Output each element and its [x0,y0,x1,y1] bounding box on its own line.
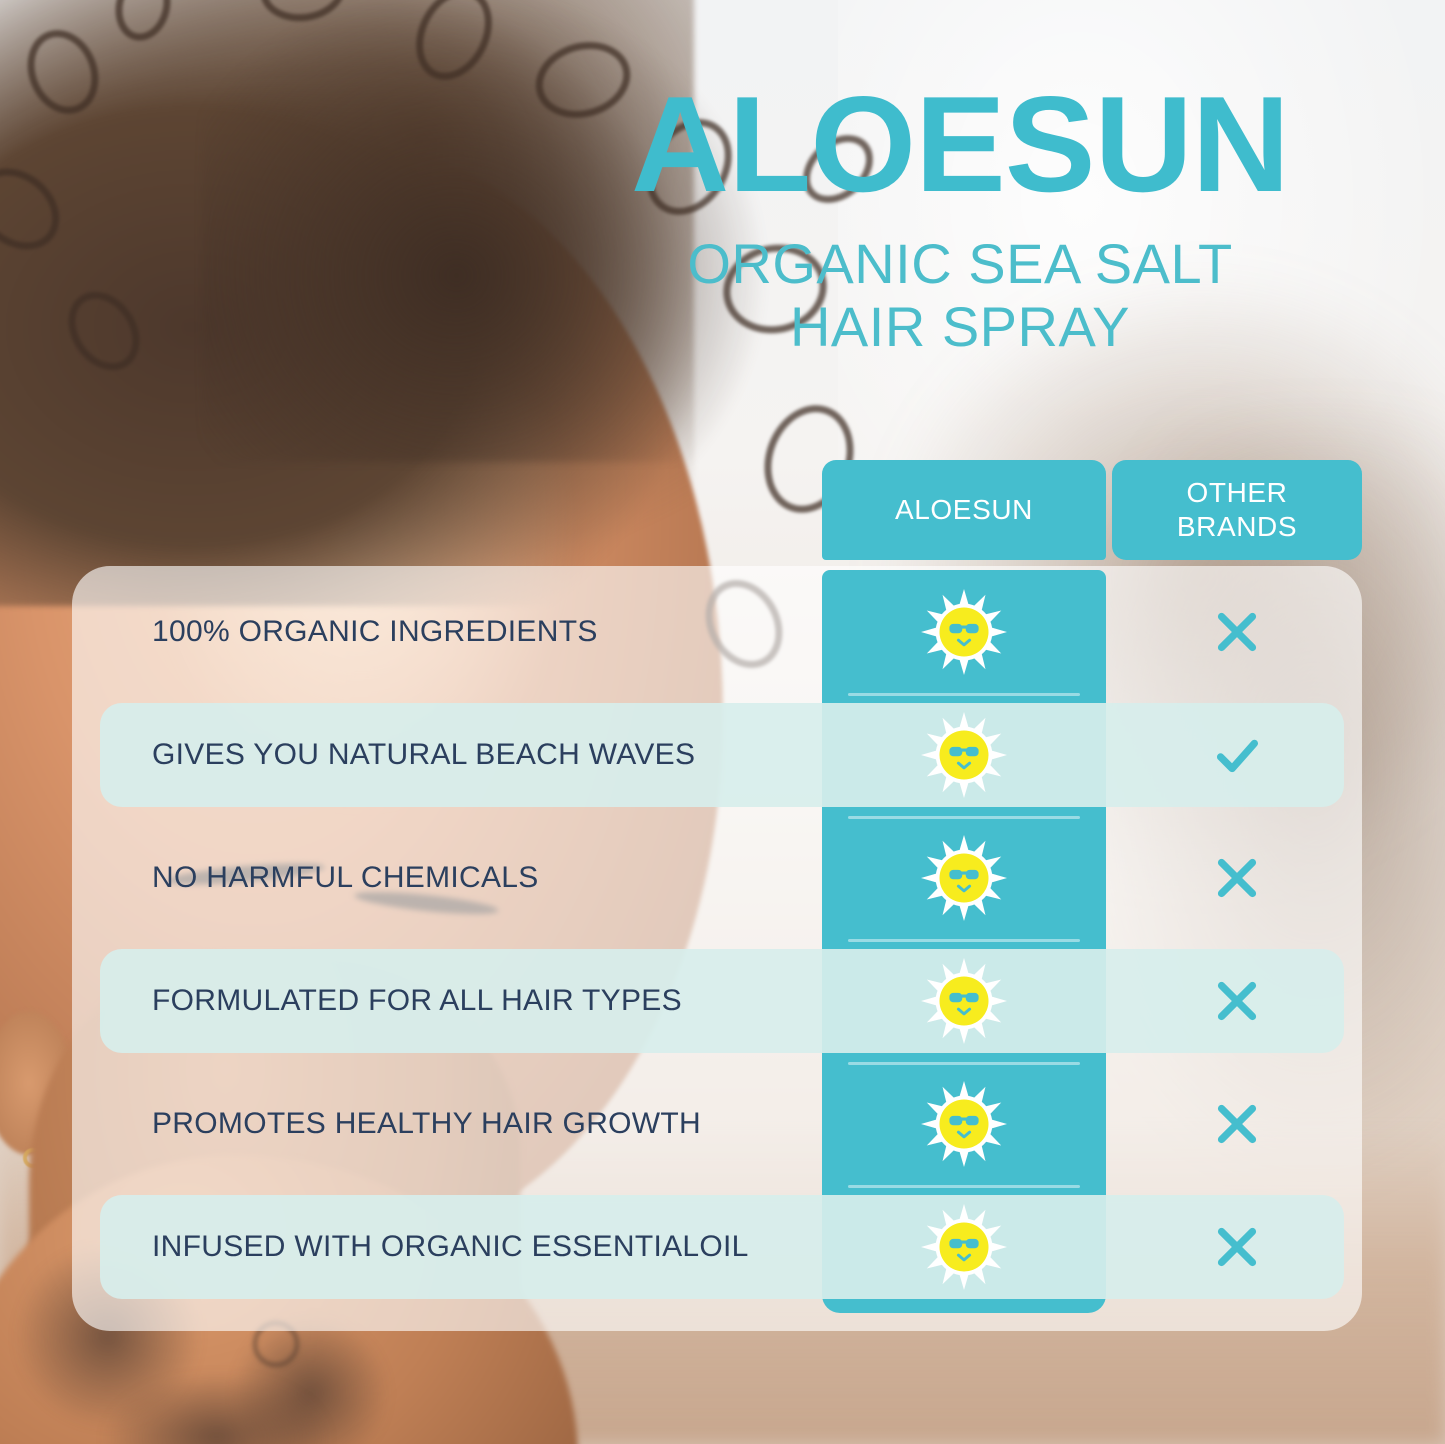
row-feature-label: FORMULATED FOR ALL HAIR TYPES [152,984,682,1018]
cell-other-brands [1112,580,1362,684]
sun-smiling-icon [921,1081,1007,1167]
cell-other-brands [1112,1195,1362,1299]
cell-aloesun [822,703,1106,807]
x-mark-icon [1208,1218,1266,1276]
row-feature-label: INFUSED WITH ORGANIC ESSENTIALOIL [152,1230,749,1264]
cell-divider [848,1062,1080,1065]
sun-smiling-icon [921,589,1007,675]
cell-divider [848,816,1080,819]
cell-divider [848,1185,1080,1188]
cell-other-brands [1112,703,1362,807]
infographic-canvas: ALOESUN ORGANIC SEA SALT HAIR SPRAY ALOE… [0,0,1445,1444]
sun-smiling-icon [921,1204,1007,1290]
row-feature-label: PROMOTES HEALTHY HAIR GROWTH [152,1107,701,1141]
cell-aloesun [822,949,1106,1053]
cell-aloesun [822,1072,1106,1176]
row-feature-label: NO HARMFUL CHEMICALS [152,861,539,895]
other-brands-line-1: OTHER [1177,476,1297,510]
brand-subtitle: ORGANIC SEA SALT HAIR SPRAY [560,233,1360,358]
check-mark-icon [1208,726,1266,784]
sun-smiling-icon [921,958,1007,1044]
brand-heading-block: ALOESUN ORGANIC SEA SALT HAIR SPRAY [560,78,1360,359]
x-mark-icon [1208,1095,1266,1153]
sun-smiling-icon [921,712,1007,798]
row-feature-label: GIVES YOU NATURAL BEACH WAVES [152,738,695,772]
cell-other-brands [1112,826,1362,930]
brand-subtitle-line-1: ORGANIC SEA SALT [560,233,1360,296]
column-header-aloesun-label: ALOESUN [895,493,1033,527]
column-header-aloesun: ALOESUN [822,460,1106,560]
brand-subtitle-line-2: HAIR SPRAY [560,296,1360,359]
x-mark-icon [1208,603,1266,661]
cell-aloesun [822,580,1106,684]
x-mark-icon [1208,972,1266,1030]
row-feature-label: 100% ORGANIC INGREDIENTS [152,615,598,649]
cell-other-brands [1112,949,1362,1053]
sun-smiling-icon [921,835,1007,921]
cell-divider [848,939,1080,942]
cell-aloesun [822,1195,1106,1299]
other-brands-line-2: BRANDS [1177,510,1297,544]
cell-aloesun [822,826,1106,930]
cell-divider [848,693,1080,696]
brand-name: ALOESUN [560,78,1360,211]
column-header-other-brands: OTHER BRANDS [1112,460,1362,560]
x-mark-icon [1208,849,1266,907]
cell-other-brands [1112,1072,1362,1176]
column-header-other-brands-label: OTHER BRANDS [1177,476,1297,544]
